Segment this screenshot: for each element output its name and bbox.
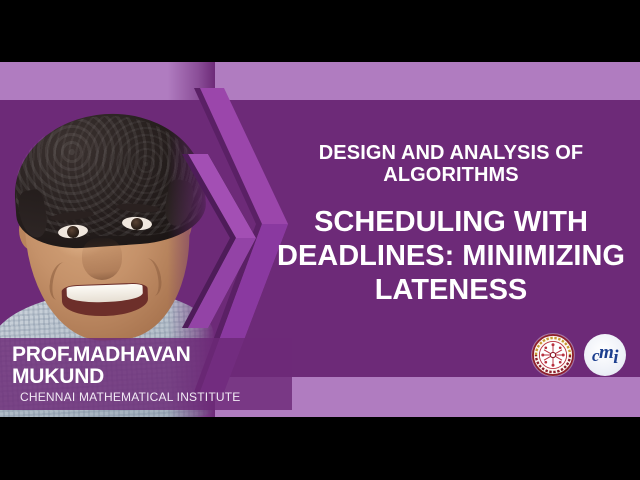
- letterbox-bar-top: [0, 0, 640, 62]
- cmi-logo-text: cmi: [592, 346, 618, 365]
- portrait-pupil-right: [131, 218, 144, 231]
- presenter-affiliation: CHENNAI MATHEMATICAL INSTITUTE: [20, 390, 282, 404]
- portrait-teeth: [66, 284, 143, 304]
- portrait-nose: [82, 238, 122, 280]
- cmi-logo-icon: cmi: [584, 334, 626, 376]
- portrait-pupil-left: [67, 225, 80, 238]
- course-subtitle: DESIGN AND ANALYSIS OF ALGORITHMS: [286, 142, 616, 187]
- logo-row: cmi: [532, 334, 626, 376]
- letterbox-bar-bottom: [0, 417, 640, 480]
- nptel-emblem-icon: [532, 334, 574, 376]
- presenter-name-banner: PROF.MADHAVAN MUKUND CHENNAI MATHEMATICA…: [0, 338, 292, 410]
- title-text-block: DESIGN AND ANALYSIS OF ALGORITHMS SCHEDU…: [262, 62, 640, 377]
- video-thumbnail-frame[interactable]: DESIGN AND ANALYSIS OF ALGORITHMS SCHEDU…: [0, 0, 640, 480]
- lecture-title: SCHEDULING WITH DEADLINES: MINIMIZING LA…: [265, 205, 637, 308]
- thumbnail-artwork: DESIGN AND ANALYSIS OF ALGORITHMS SCHEDU…: [0, 62, 640, 417]
- presenter-name: PROF.MADHAVAN MUKUND: [12, 344, 282, 388]
